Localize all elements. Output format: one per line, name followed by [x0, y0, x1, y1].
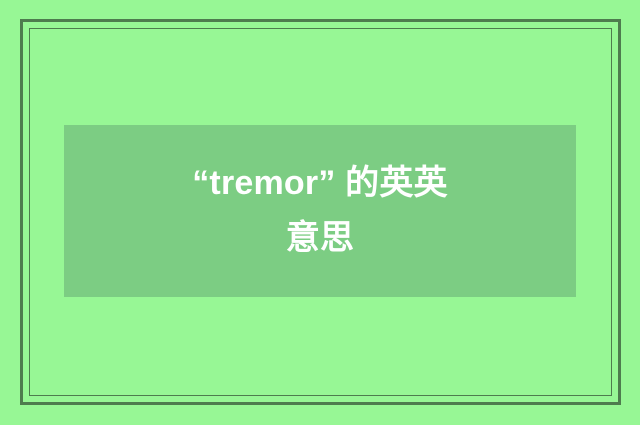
page-title: “tremor” 的英英意思: [190, 156, 450, 266]
title-panel: “tremor” 的英英意思: [64, 125, 576, 297]
poster-canvas: “tremor” 的英英意思: [0, 0, 640, 425]
